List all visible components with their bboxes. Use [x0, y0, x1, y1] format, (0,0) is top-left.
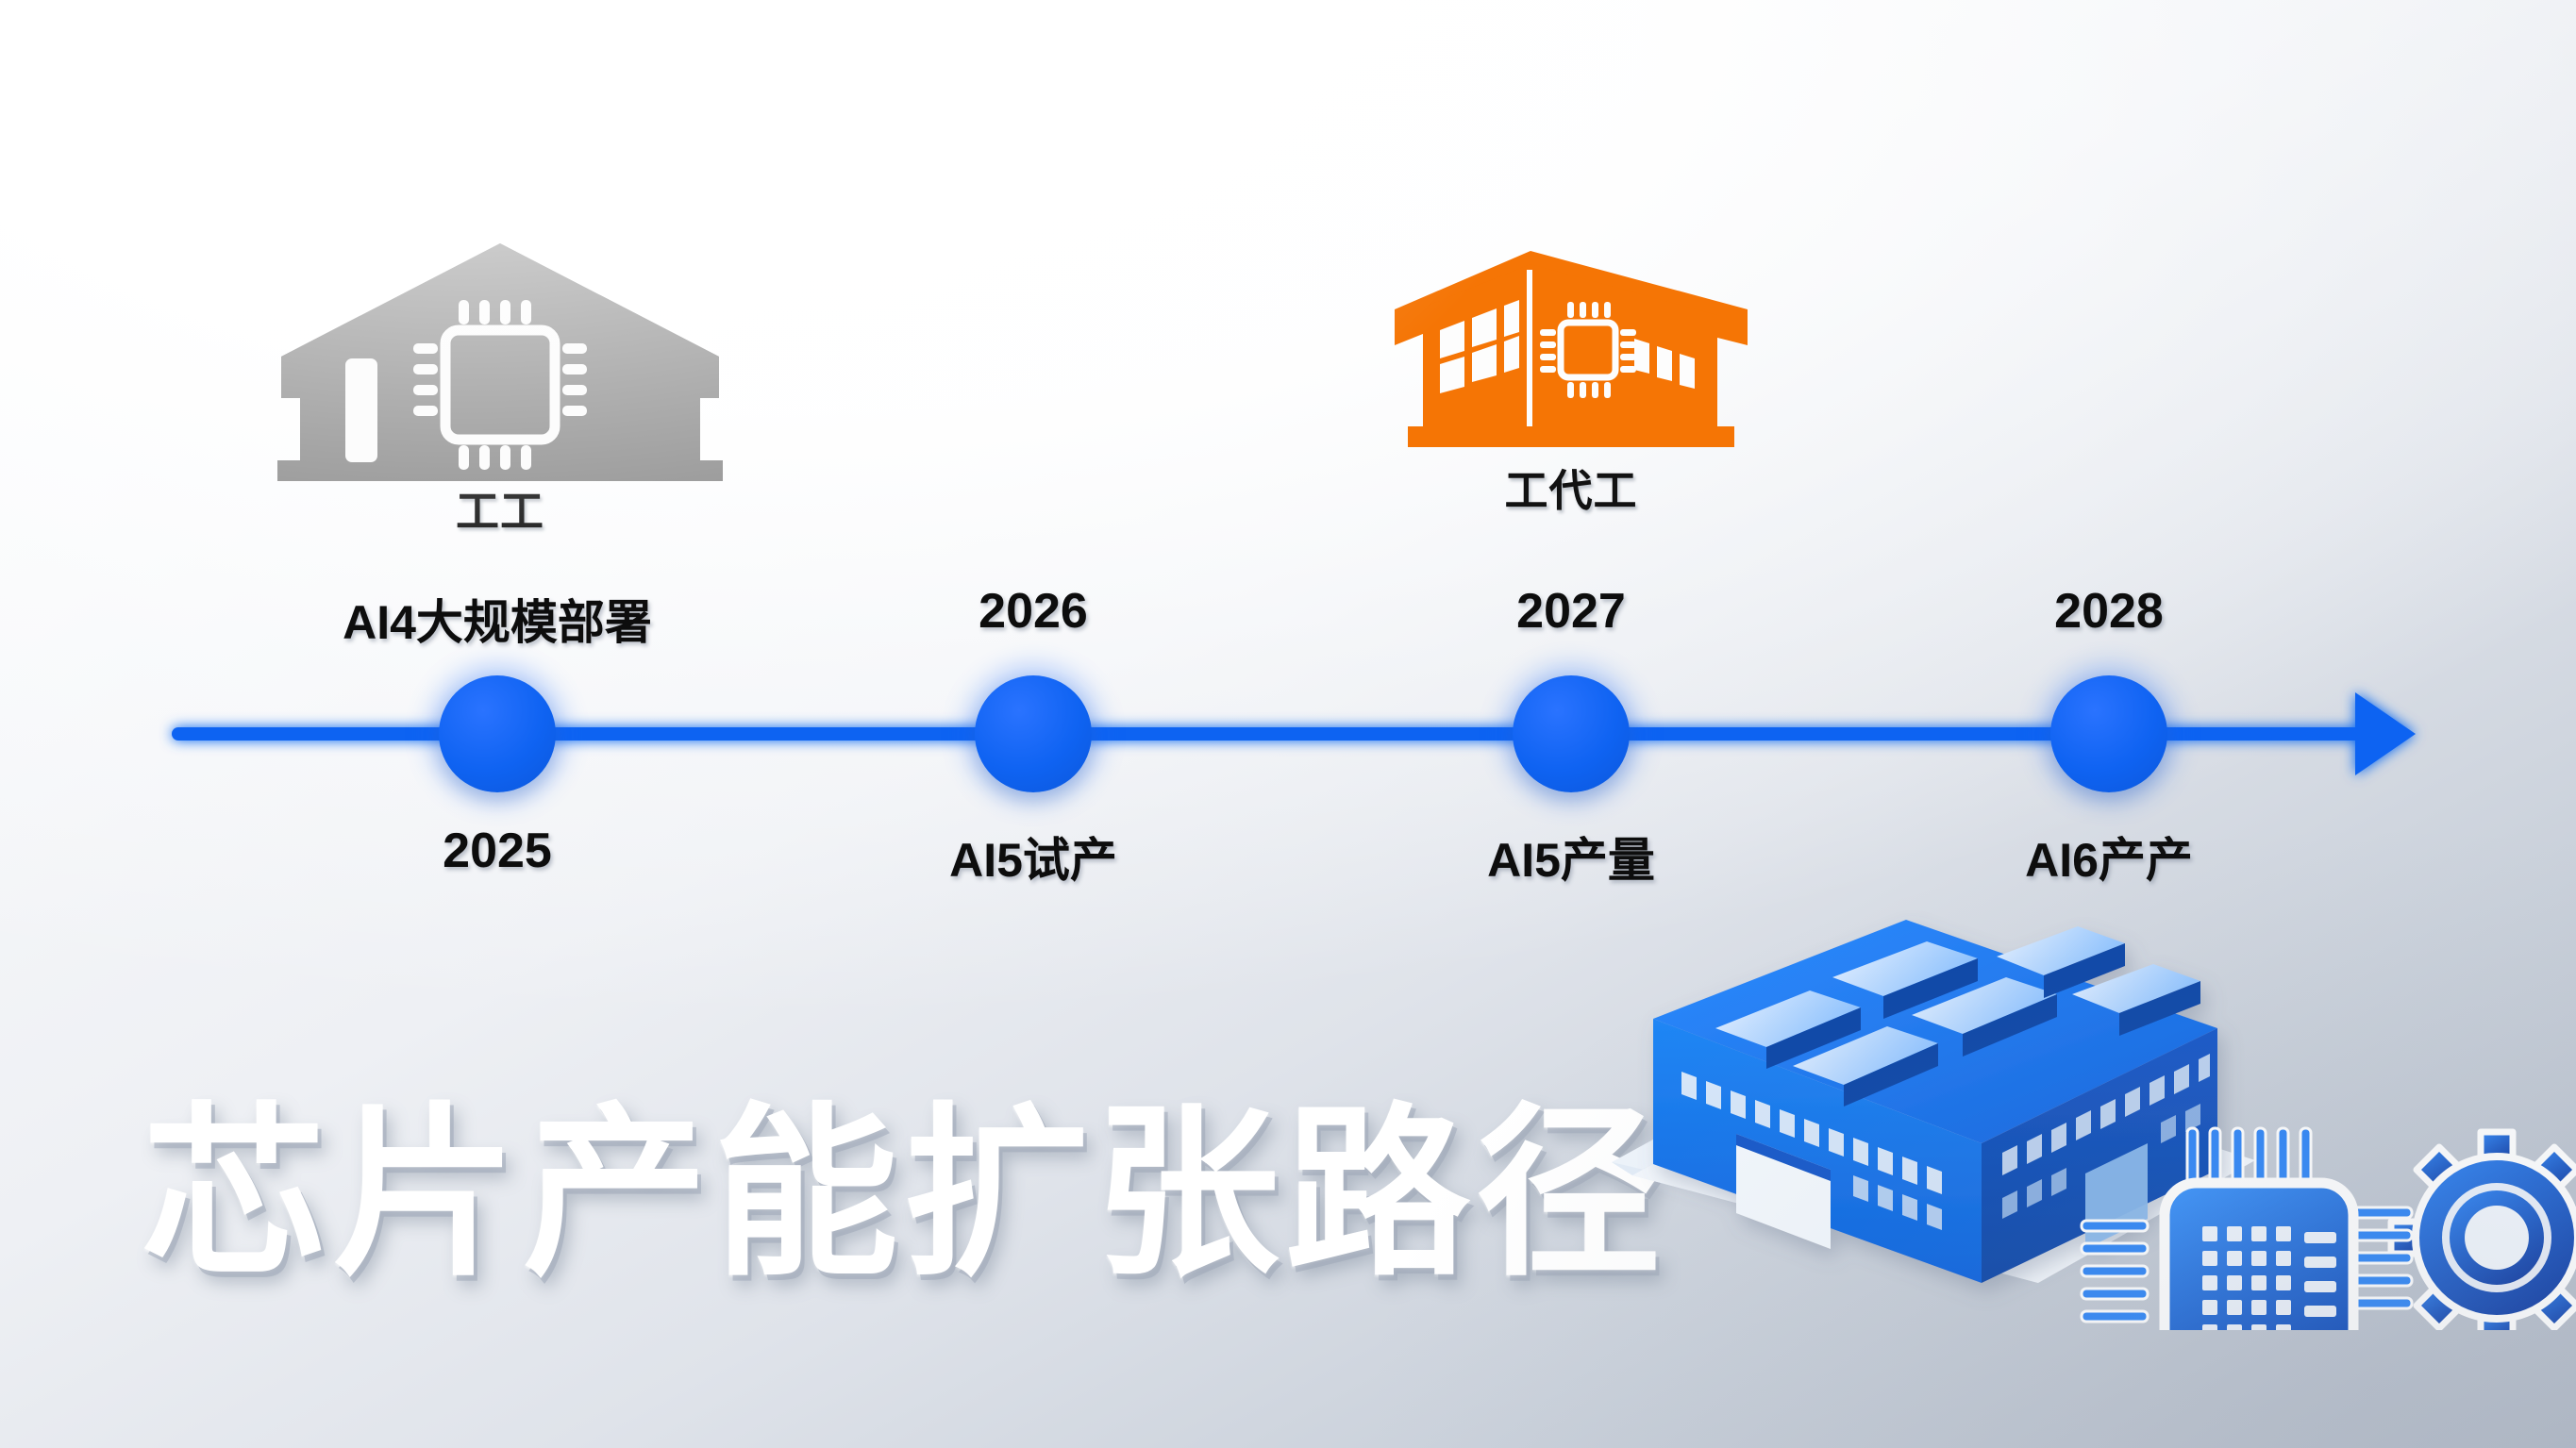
page-title: 芯片产能扩张路径 [142, 1102, 1666, 1287]
timeline-node-4[interactable] [2050, 675, 2167, 792]
infographic-canvas: 工工 [0, 0, 2576, 1448]
isometric-factory-scene [1595, 887, 2576, 1335]
gear-icon [2391, 1132, 2576, 1330]
timeline-node-1-year: 2025 [443, 823, 552, 879]
timeline-node-4-year: 2028 [2054, 583, 2164, 640]
arrow-right-icon [2355, 692, 2416, 775]
timeline-node-1-event: AI4大规模部署 [343, 585, 652, 653]
timeline-node-2[interactable] [975, 675, 1092, 792]
timeline-node-1[interactable] [439, 675, 556, 792]
timeline-node-3-year: 2027 [1516, 583, 1626, 640]
timeline-node-4-event: AI6产产 [2025, 823, 2193, 890]
timeline-node-3-event: AI5产量 [1487, 823, 1655, 890]
timeline-node-2-event: AI5试产 [949, 823, 1117, 890]
timeline-node-2-year: 2026 [979, 583, 1088, 640]
timeline-node-3[interactable] [1513, 675, 1630, 792]
